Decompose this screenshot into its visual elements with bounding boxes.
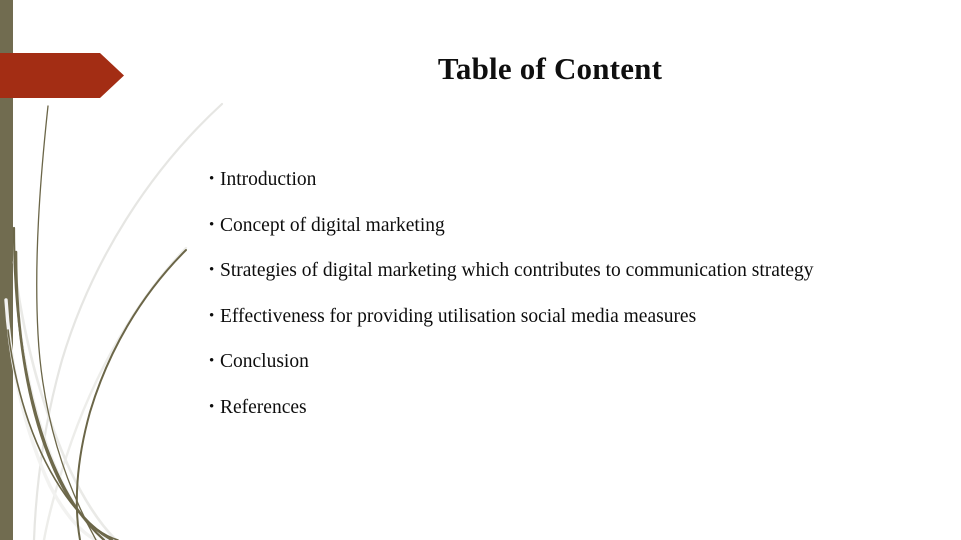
list-item: Effectiveness for providing utilisation … (209, 297, 909, 337)
table-of-content-list: Introduction Concept of digital marketin… (209, 160, 909, 433)
list-item: Strategies of digital marketing which co… (209, 251, 909, 291)
list-item: Concept of digital marketing (209, 206, 909, 246)
page-title: Table of Content (150, 50, 950, 87)
slide-canvas: Table of Content Introduction Concept of… (0, 0, 961, 540)
arrow-banner-icon (0, 53, 124, 98)
list-item: Introduction (209, 160, 909, 200)
list-item: References (209, 388, 909, 428)
list-item: Conclusion (209, 342, 909, 382)
